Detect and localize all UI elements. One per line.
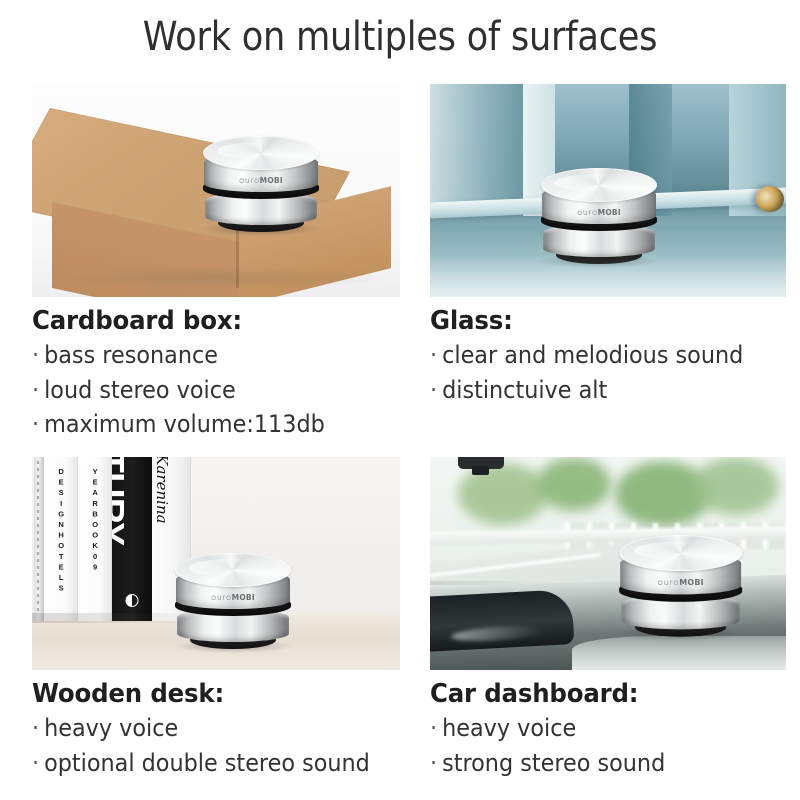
book-spine-text: YEARBOOK09 bbox=[87, 467, 101, 573]
book-spine-text: DESIGNHOTELS bbox=[53, 467, 67, 594]
feature-list: ·heavy voice ·optional double stereo sou… bbox=[32, 711, 400, 780]
bullet-icon: · bbox=[32, 373, 44, 408]
feature-text: optional double stereo sound bbox=[44, 749, 370, 777]
feature-text: loud stereo voice bbox=[44, 376, 236, 404]
brand-mark: ᴑurᴑ bbox=[658, 577, 680, 587]
bullet-icon: · bbox=[430, 746, 442, 781]
speaker-top-disc bbox=[619, 535, 742, 571]
photo-car-dashboard: ᴑurᴑMOBI bbox=[430, 457, 786, 670]
caption-glass: Glass: ·clear and melodious sound ·disti… bbox=[430, 297, 786, 407]
product-feature-page: Work on multiples of surfaces ᴑu bbox=[0, 0, 800, 800]
glass-reflection bbox=[430, 254, 786, 297]
bullet-icon: · bbox=[430, 711, 442, 746]
surface-heading: Glass: bbox=[430, 306, 765, 336]
feature-item: ·loud stereo voice bbox=[32, 373, 374, 408]
brand-name: MOBI bbox=[232, 593, 255, 602]
surface-heading: Car dashboard: bbox=[430, 679, 765, 709]
bullet-icon: · bbox=[32, 338, 44, 373]
surface-cell-car-dashboard: ᴑurᴑMOBI Car dashboard: ·heavy voice ·st… bbox=[430, 457, 786, 780]
rearview-mirror-mount bbox=[458, 457, 504, 469]
dashboard-right-panel bbox=[572, 636, 786, 670]
bluetooth-speaker: ᴑurᴑMOBI bbox=[200, 136, 322, 232]
feature-item: ·clear and melodious sound bbox=[430, 338, 761, 373]
book-spine-century: CENTURY bbox=[112, 457, 152, 621]
caption-car-dashboard: Car dashboard: ·heavy voice ·strong ster… bbox=[430, 670, 786, 780]
feature-list: ·heavy voice ·strong stereo sound bbox=[430, 711, 786, 780]
bullet-icon: · bbox=[32, 746, 44, 781]
brand-name: MOBI bbox=[679, 577, 704, 587]
book-spine-yearbook: YEARBOOK09 bbox=[78, 457, 112, 621]
brand-name: MOBI bbox=[260, 176, 283, 185]
surface-cell-wooden-desk: DESIGNHOTELS YEARBOOK09 CENTURY Anna Kar… bbox=[32, 457, 400, 780]
page-title: Work on multiples of surfaces bbox=[48, 14, 752, 60]
feature-list: ·clear and melodious sound ·distinctuive… bbox=[430, 338, 786, 407]
speaker-top-disc bbox=[203, 136, 319, 170]
brand-mark: ᴑurᴑ bbox=[577, 208, 598, 217]
brand-name: MOBI bbox=[598, 208, 621, 217]
feature-text: heavy voice bbox=[442, 714, 576, 742]
brand-logo: ᴑurᴑMOBI bbox=[176, 593, 290, 602]
feature-text: heavy voice bbox=[44, 714, 178, 742]
feature-text: strong stereo sound bbox=[442, 749, 665, 777]
bluetooth-speaker: ᴑurᴑMOBI bbox=[616, 535, 745, 637]
bullet-icon: · bbox=[32, 407, 44, 442]
feature-item: ·distinctuive alt bbox=[430, 373, 761, 408]
feature-item: ·heavy voice bbox=[430, 711, 761, 746]
yearbook-label: YEARBOOK09 bbox=[91, 467, 100, 573]
photo-cardboard-box: ᴑurᴑMOBI bbox=[32, 84, 400, 297]
book-stack: DESIGNHOTELS YEARBOOK09 CENTURY Anna Kar… bbox=[34, 457, 191, 621]
feature-item: ·optional double stereo sound bbox=[32, 746, 374, 781]
speaker-top-disc bbox=[541, 168, 657, 202]
caption-wooden-desk: Wooden desk: ·heavy voice ·optional doub… bbox=[32, 670, 400, 780]
feature-text: maximum volume:113db bbox=[44, 410, 325, 438]
feature-text: distinctuive alt bbox=[442, 376, 607, 404]
cardboard-box-shadow bbox=[56, 267, 386, 289]
feature-item: ·strong stereo sound bbox=[430, 746, 761, 781]
bullet-icon: · bbox=[32, 711, 44, 746]
caption-cardboard: Cardboard box: ·bass resonance ·loud ste… bbox=[32, 297, 400, 442]
brand-mark: ᴑurᴑ bbox=[239, 176, 260, 185]
designhotels-label: DESIGNHOTELS bbox=[57, 467, 66, 594]
brand-logo: ᴑurᴑMOBI bbox=[620, 577, 741, 587]
feature-item: ·maximum volume:113db bbox=[32, 407, 374, 442]
feature-text: bass resonance bbox=[44, 341, 218, 369]
brand-logo: ᴑurᴑMOBI bbox=[204, 176, 318, 185]
glass-background-band bbox=[430, 84, 523, 216]
tree-blur bbox=[693, 457, 779, 515]
book-spine-designhotels: DESIGNHOTELS bbox=[44, 457, 78, 621]
dashboard-vent bbox=[430, 589, 574, 652]
publisher-mark-icon bbox=[126, 594, 139, 607]
bluetooth-speaker: ᴑurᴑMOBI bbox=[172, 553, 294, 649]
surface-cell-cardboard: ᴑurᴑMOBI Cardboard box: ·bass resonance … bbox=[32, 84, 400, 442]
bluetooth-speaker: ᴑurᴑMOBI bbox=[538, 168, 660, 264]
feature-item: ·bass resonance bbox=[32, 338, 374, 373]
bullet-icon: · bbox=[430, 373, 442, 408]
book-spine-thin bbox=[34, 457, 44, 621]
feature-item: ·heavy voice bbox=[32, 711, 374, 746]
century-title: CENTURY bbox=[112, 457, 132, 546]
speaker-top-disc bbox=[175, 553, 291, 587]
bullet-icon: · bbox=[430, 338, 442, 373]
surface-heading: Cardboard box: bbox=[32, 306, 378, 336]
surface-heading: Wooden desk: bbox=[32, 679, 378, 709]
photo-wooden-desk: DESIGNHOTELS YEARBOOK09 CENTURY Anna Kar… bbox=[32, 457, 400, 670]
photo-glass-table: ᴑurᴑMOBI bbox=[430, 84, 786, 297]
surface-cell-glass: ᴑurᴑMOBI Glass: ·clear and melodious sou… bbox=[430, 84, 786, 407]
tree-blur bbox=[537, 457, 611, 511]
brand-mark: ᴑurᴑ bbox=[211, 593, 232, 602]
feature-text: clear and melodious sound bbox=[442, 341, 743, 369]
brand-logo: ᴑurᴑMOBI bbox=[542, 208, 656, 217]
anna-karenina-title: Anna Karenina bbox=[153, 457, 171, 524]
feature-list: ·bass resonance ·loud stereo voice ·maxi… bbox=[32, 338, 400, 442]
